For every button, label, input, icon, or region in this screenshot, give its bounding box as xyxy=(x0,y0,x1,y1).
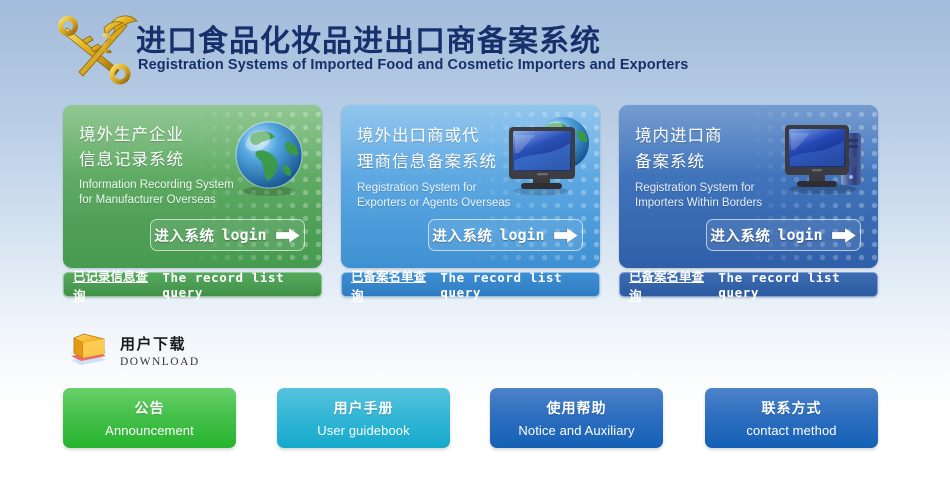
folder-book-download-icon xyxy=(68,330,110,370)
button-label-cn: 用户手册 xyxy=(334,398,394,418)
button-label-en: Announcement xyxy=(105,423,194,438)
login-label-en: login xyxy=(499,226,544,244)
nav-button-contact[interactable]: 联系方式 contact method xyxy=(705,388,878,448)
card-body: 境内进口商 备案系统 Registration System for Impor… xyxy=(619,105,878,268)
record-query-label-en: The record list query xyxy=(162,270,321,300)
button-label-en: contact method xyxy=(746,423,836,438)
system-card-exporters-agents-overseas: 境外出口商或代 理商信息备案系统 Registration System for… xyxy=(341,105,600,300)
desktop-pc-icon xyxy=(779,113,871,199)
login-button-importers-within-borders[interactable]: 进入系统 login xyxy=(706,219,861,251)
arrow-right-icon xyxy=(831,227,857,244)
nav-button-user-guidebook[interactable]: 用户手册 User guidebook xyxy=(277,388,450,448)
system-card-importers-within-borders: 境内进口商 备案系统 Registration System for Impor… xyxy=(619,105,878,300)
login-label-cn: 进入系统 xyxy=(154,225,214,246)
record-query-label-en: The record list query xyxy=(718,270,877,300)
login-label-cn: 进入系统 xyxy=(710,225,770,246)
arrow-right-icon xyxy=(275,227,301,244)
login-button-manufacturer-overseas[interactable]: 进入系统 login xyxy=(150,219,305,251)
nav-button-notice-help[interactable]: 使用帮助 Notice and Auxiliary xyxy=(490,388,663,448)
record-list-query-importers-within-borders[interactable]: 已备案名单查询 The record list query xyxy=(619,272,878,297)
record-query-label-en: The record list query xyxy=(440,270,599,300)
login-label-en: login xyxy=(221,226,266,244)
record-query-label-cn: 已备案名单查询 xyxy=(629,266,710,304)
download-label-en: DOWNLOAD xyxy=(120,356,200,368)
globe-icon xyxy=(223,113,315,199)
login-label-en: login xyxy=(777,226,822,244)
arrow-right-icon xyxy=(553,227,579,244)
login-label-cn: 进入系统 xyxy=(432,225,492,246)
button-label-en: Notice and Auxiliary xyxy=(518,423,634,438)
page-title-cn: 进口食品化妆品进出口商备案系统 xyxy=(136,16,601,60)
card-body: 境外生产企业 信息记录系统 Information Recording Syst… xyxy=(63,105,322,268)
button-label-cn: 联系方式 xyxy=(762,398,822,418)
login-button-exporters-agents-overseas[interactable]: 进入系统 login xyxy=(428,219,583,251)
record-list-query-manufacturer-overseas[interactable]: 已记录信息查询 The record list query xyxy=(63,272,322,297)
monitor-globe-icon xyxy=(501,113,593,199)
record-query-label-cn: 已记录信息查询 xyxy=(73,266,154,304)
download-label-cn: 用户下载 xyxy=(120,333,200,354)
page-title-en: Registration Systems of Imported Food an… xyxy=(138,57,688,73)
system-cards: 境外生产企业 信息记录系统 Information Recording Syst… xyxy=(0,105,950,300)
button-label-en: User guidebook xyxy=(317,423,409,438)
download-section[interactable]: 用户下载 DOWNLOAD xyxy=(68,327,200,373)
page-header: 进口食品化妆品进出口商备案系统 Registration Systems of … xyxy=(0,0,950,96)
card-body: 境外出口商或代 理商信息备案系统 Registration System for… xyxy=(341,105,600,268)
customs-key-caduceus-emblem xyxy=(57,10,141,88)
download-label-group: 用户下载 DOWNLOAD xyxy=(120,333,200,368)
record-query-label-cn: 已备案名单查询 xyxy=(351,266,432,304)
nav-button-announcement[interactable]: 公告 Announcement xyxy=(63,388,236,448)
record-list-query-exporters-agents-overseas[interactable]: 已备案名单查询 The record list query xyxy=(341,272,600,297)
button-label-cn: 使用帮助 xyxy=(547,398,607,418)
system-card-manufacturer-overseas: 境外生产企业 信息记录系统 Information Recording Syst… xyxy=(63,105,322,300)
button-label-cn: 公告 xyxy=(135,398,165,418)
